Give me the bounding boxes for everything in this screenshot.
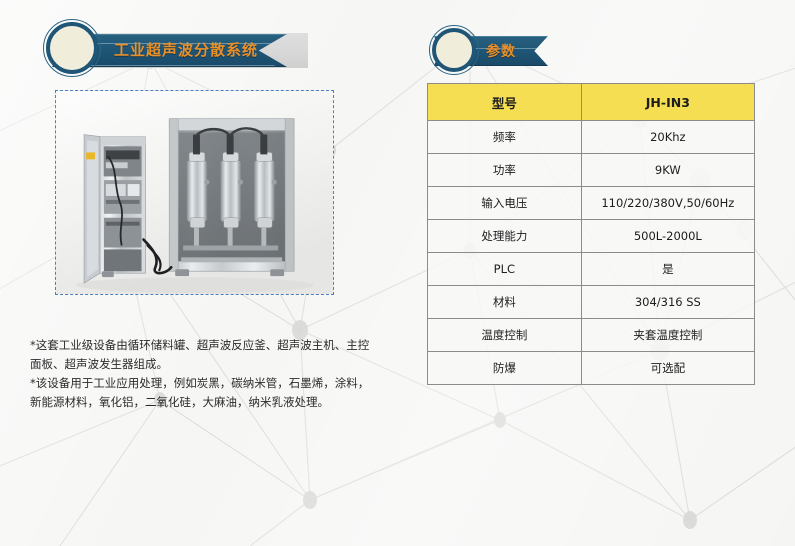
table-header-cell-value: JH-IN3: [581, 84, 754, 121]
table-cell-label: 处理能力: [428, 220, 582, 253]
right-banner-title: 参数: [486, 41, 516, 61]
table-cell-label: 功率: [428, 154, 582, 187]
table-row: 材料304/316 SS: [428, 286, 755, 319]
left-section-banner: 工业超声波分散系统: [46, 30, 308, 70]
table-cell-label: PLC: [428, 253, 582, 286]
equipment-photo-frame: [55, 90, 334, 295]
table-cell-value: 9KW: [581, 154, 754, 187]
table-row: 频率20Khz: [428, 121, 755, 154]
page-root: 工业超声波分散系统: [0, 0, 795, 546]
left-banner-title: 工业超声波分散系统: [114, 39, 258, 60]
table-cell-value: 500L-2000L: [581, 220, 754, 253]
table-row: 输入电压110/220/380V,50/60Hz: [428, 187, 755, 220]
table-cell-value: 可选配: [581, 352, 754, 385]
right-section-banner: 参数: [428, 28, 558, 72]
table-cell-label: 防爆: [428, 352, 582, 385]
caption-line-1: *这套工业级设备由循环储料罐、超声波反应釜、超声波主机、主控面板、超声波发生器组…: [30, 336, 380, 374]
table-header-row: 型号 JH-IN3: [428, 84, 755, 121]
table-row: PLC是: [428, 253, 755, 286]
table-row: 温度控制夹套温度控制: [428, 319, 755, 352]
table-cell-label: 频率: [428, 121, 582, 154]
table-row: 防爆可选配: [428, 352, 755, 385]
table-header-cell-label: 型号: [428, 84, 582, 121]
table-cell-label: 输入电压: [428, 187, 582, 220]
table-cell-value: 110/220/380V,50/60Hz: [581, 187, 754, 220]
banner-medal-circle-icon: [46, 22, 98, 74]
table-row: 功率9KW: [428, 154, 755, 187]
table-cell-label: 材料: [428, 286, 582, 319]
table-row: 处理能力500L-2000L: [428, 220, 755, 253]
table-cell-value: 是: [581, 253, 754, 286]
table-cell-value: 304/316 SS: [581, 286, 754, 319]
table-cell-value: 夹套温度控制: [581, 319, 754, 352]
caption-line-2: *该设备用于工业应用处理，例如炭黑，碳纳米管，石墨烯，涂料，新能源材料，氧化铝，…: [30, 374, 380, 412]
equipment-caption: *这套工业级设备由循环储料罐、超声波反应釜、超声波主机、主控面板、超声波发生器组…: [30, 336, 380, 412]
specification-table: 型号 JH-IN3 频率20Khz功率9KW输入电压110/220/380V,5…: [427, 83, 755, 385]
table-cell-label: 温度控制: [428, 319, 582, 352]
params-medal-circle-icon: [432, 28, 476, 72]
equipment-photo: [56, 91, 333, 294]
table-cell-value: 20Khz: [581, 121, 754, 154]
